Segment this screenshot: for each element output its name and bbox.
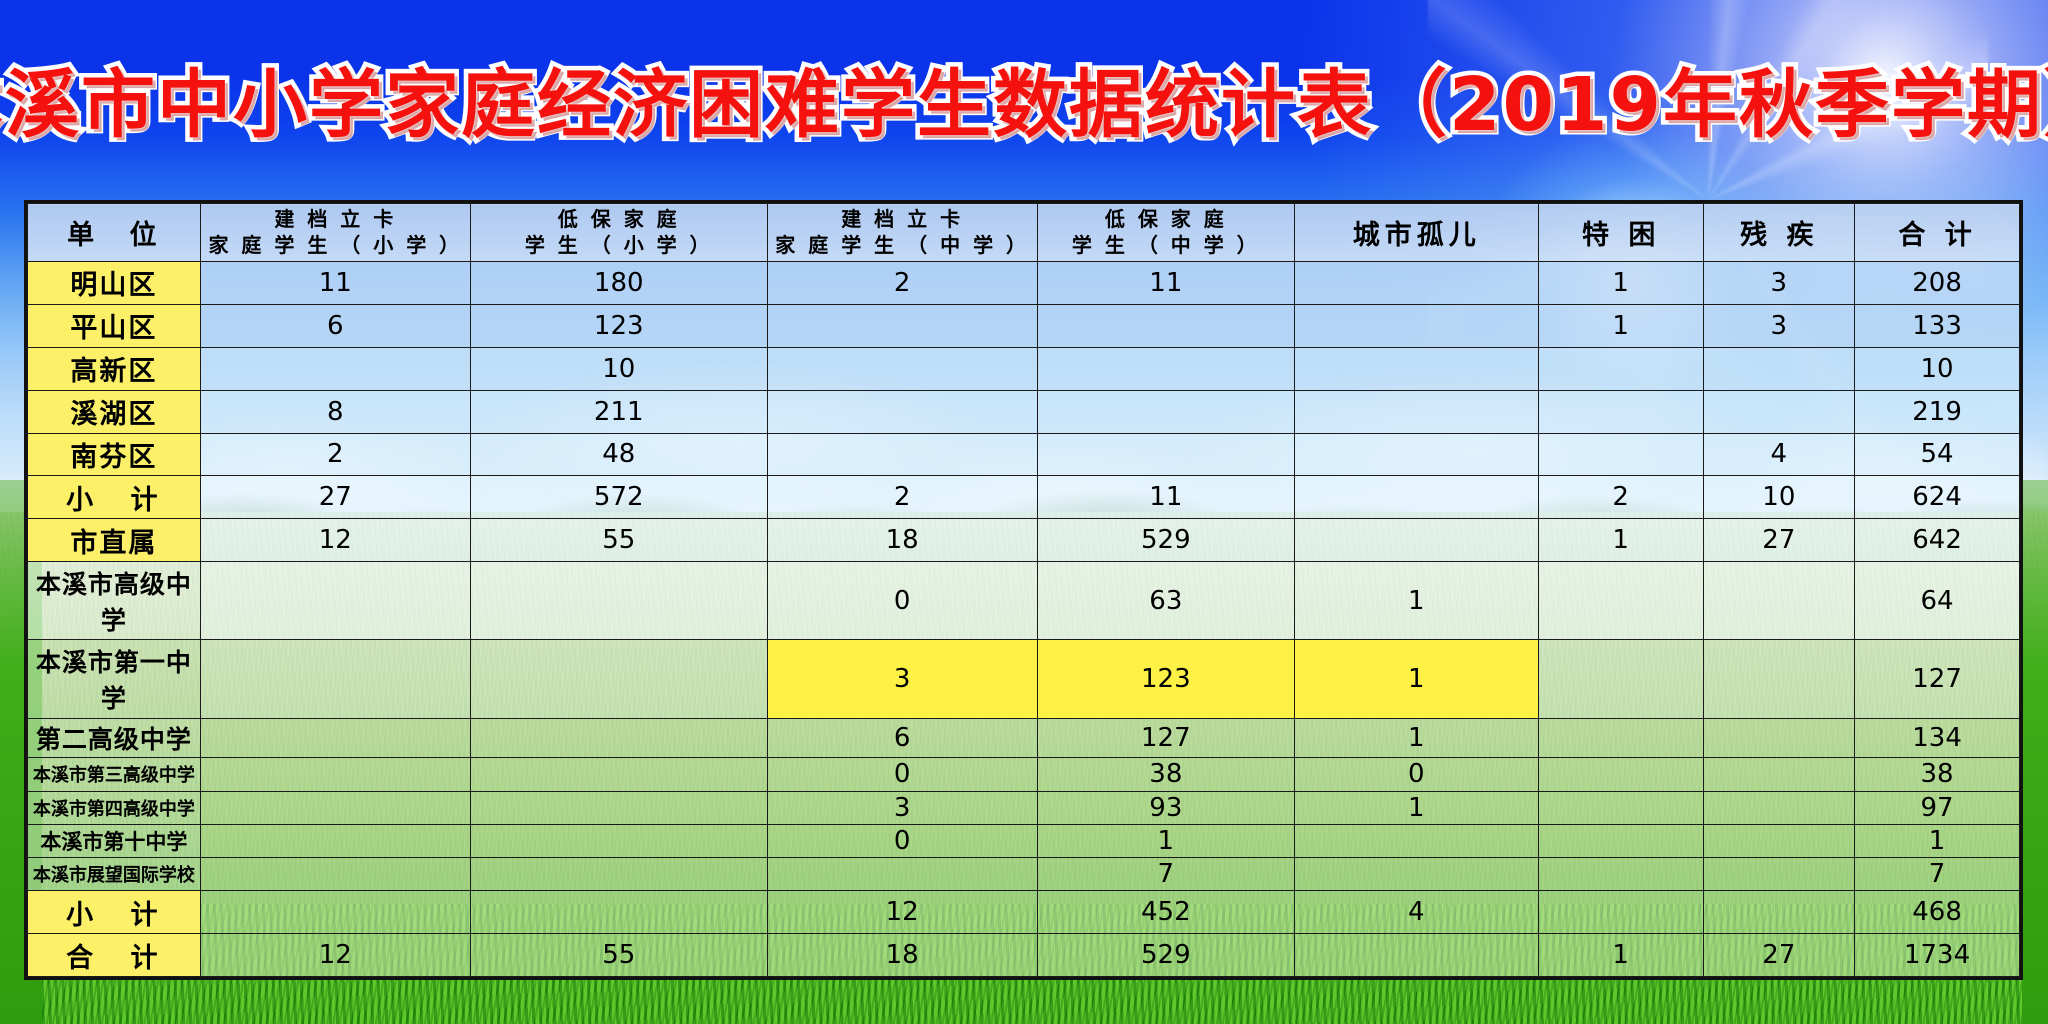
data-cell: 4 <box>1294 891 1538 934</box>
data-cell: 133 <box>1855 304 2020 347</box>
data-cell: 529 <box>1037 519 1294 562</box>
data-cell <box>200 640 470 718</box>
data-cell: 38 <box>1037 758 1294 791</box>
data-cell <box>767 433 1037 476</box>
data-cell: 63 <box>1037 562 1294 640</box>
data-cell: 54 <box>1855 433 2020 476</box>
data-cell: 208 <box>1855 262 2020 305</box>
data-cell <box>470 758 767 791</box>
page-title: 本溪市中小学家庭经济困难学生数据统计表（2019年秋季学期） <box>0 45 2048 152</box>
data-cell <box>470 640 767 718</box>
table-row: 南芬区248454 <box>28 433 2020 476</box>
data-cell <box>1703 891 1855 934</box>
data-cell: 1 <box>1855 824 2020 857</box>
data-cell <box>767 390 1037 433</box>
data-cell <box>767 304 1037 347</box>
data-cell: 1734 <box>1855 934 2020 977</box>
data-cell <box>1037 304 1294 347</box>
data-cell: 38 <box>1855 758 2020 791</box>
row-label-cell: 本溪市第一中学 <box>28 640 201 718</box>
data-cell: 0 <box>1294 758 1538 791</box>
data-cell: 10 <box>1703 476 1855 519</box>
table-row: 小 计27572211210624 <box>28 476 2020 519</box>
data-cell <box>1294 390 1538 433</box>
data-cell <box>1703 640 1855 718</box>
data-cell: 123 <box>1037 640 1294 718</box>
row-label-cell: 高新区 <box>28 347 201 390</box>
table-row: 高新区1010 <box>28 347 2020 390</box>
data-cell: 0 <box>767 758 1037 791</box>
data-cell <box>1538 347 1703 390</box>
data-cell <box>1037 390 1294 433</box>
row-label-cell: 南芬区 <box>28 433 201 476</box>
row-label-cell: 小 计 <box>28 891 201 934</box>
data-cell <box>200 791 470 824</box>
data-cell <box>1294 347 1538 390</box>
table-row: 小 计124524468 <box>28 891 2020 934</box>
data-cell: 55 <box>470 519 767 562</box>
data-cell: 11 <box>200 262 470 305</box>
data-cell <box>1294 824 1538 857</box>
data-cell <box>1703 791 1855 824</box>
data-cell <box>1703 857 1855 890</box>
data-cell <box>1538 390 1703 433</box>
data-cell: 18 <box>767 519 1037 562</box>
col-header-city-orphan: 城市孤儿 <box>1294 204 1538 262</box>
data-cell: 1 <box>1294 718 1538 758</box>
col-header-line2: 学 生 （ 中 学 ） <box>1042 233 1290 259</box>
data-cell: 2 <box>767 262 1037 305</box>
right-grass-edge <box>2022 480 2048 1024</box>
table-row: 本溪市第十中学011 <box>28 824 2020 857</box>
data-cell <box>1703 390 1855 433</box>
col-header-total: 合 计 <box>1855 204 2020 262</box>
row-label-cell: 市直属 <box>28 519 201 562</box>
data-cell <box>200 891 470 934</box>
data-cell <box>1538 758 1703 791</box>
table-row: 本溪市第四高级中学393197 <box>28 791 2020 824</box>
row-label-cell: 平山区 <box>28 304 201 347</box>
data-cell <box>1703 347 1855 390</box>
data-cell <box>1538 433 1703 476</box>
data-cell: 211 <box>470 390 767 433</box>
data-cell: 1 <box>1294 640 1538 718</box>
data-cell: 12 <box>200 934 470 977</box>
table-row: 本溪市展望国际学校77 <box>28 857 2020 890</box>
data-cell: 134 <box>1855 718 2020 758</box>
col-header-label: 合 计 <box>1898 220 1976 251</box>
data-cell: 12 <box>767 891 1037 934</box>
data-cell: 10 <box>1855 347 2020 390</box>
data-cell: 2 <box>1538 476 1703 519</box>
data-cell: 27 <box>1703 934 1855 977</box>
col-header-line2: 学 生 （ 小 学 ） <box>475 233 763 259</box>
data-cell <box>1294 519 1538 562</box>
data-cell <box>200 857 470 890</box>
data-cell: 7 <box>1855 857 2020 890</box>
data-cell <box>470 562 767 640</box>
data-cell <box>200 758 470 791</box>
data-cell: 2 <box>200 433 470 476</box>
data-cell: 1 <box>1538 262 1703 305</box>
col-header-jdlk-primary: 建 档 立 卡家 庭 学 生 （ 小 学 ） <box>200 204 470 262</box>
data-cell: 0 <box>767 824 1037 857</box>
col-header-line1: 低 保 家 庭 <box>1042 207 1290 233</box>
row-label-cell: 本溪市第三高级中学 <box>28 758 201 791</box>
table-row: 合 计1255185291271734 <box>28 934 2020 977</box>
col-header-line2: 家 庭 学 生 （ 中 学 ） <box>772 233 1033 259</box>
data-cell <box>1037 347 1294 390</box>
data-cell <box>1294 476 1538 519</box>
row-label-cell: 小 计 <box>28 476 201 519</box>
data-cell <box>470 791 767 824</box>
data-cell: 6 <box>200 304 470 347</box>
col-header-label: 城市孤儿 <box>1353 220 1481 251</box>
data-cell <box>200 562 470 640</box>
data-cell: 7 <box>1037 857 1294 890</box>
col-header-unit: 单 位 <box>28 204 201 262</box>
data-cell: 1 <box>1294 562 1538 640</box>
table-body: 明山区1118021113208平山区612313133高新区1010溪湖区82… <box>28 262 2020 977</box>
row-label-cell: 本溪市第十中学 <box>28 824 201 857</box>
table-row: 本溪市第三高级中学038038 <box>28 758 2020 791</box>
data-cell: 1 <box>1538 519 1703 562</box>
data-cell <box>470 891 767 934</box>
data-cell: 529 <box>1037 934 1294 977</box>
data-cell <box>1538 857 1703 890</box>
data-cell <box>1037 433 1294 476</box>
data-cell: 1 <box>1538 934 1703 977</box>
data-cell: 97 <box>1855 791 2020 824</box>
data-cell <box>470 824 767 857</box>
data-cell: 3 <box>1703 304 1855 347</box>
data-cell <box>1538 562 1703 640</box>
data-cell <box>1538 640 1703 718</box>
row-label-cell: 本溪市展望国际学校 <box>28 857 201 890</box>
data-cell: 6 <box>767 718 1037 758</box>
data-cell <box>470 718 767 758</box>
data-cell: 452 <box>1037 891 1294 934</box>
data-cell <box>1703 562 1855 640</box>
table-row: 明山区1118021113208 <box>28 262 2020 305</box>
data-cell: 27 <box>200 476 470 519</box>
row-label-cell: 合 计 <box>28 934 201 977</box>
data-cell: 3 <box>1703 262 1855 305</box>
data-cell <box>1294 304 1538 347</box>
data-cell: 48 <box>470 433 767 476</box>
data-cell: 12 <box>200 519 470 562</box>
col-header-jdlk-middle: 建 档 立 卡家 庭 学 生 （ 中 学 ） <box>767 204 1037 262</box>
data-cell <box>767 347 1037 390</box>
title-banner: 本溪市中小学家庭经济困难学生数据统计表（2019年秋季学期） <box>0 44 2048 152</box>
row-label-cell: 溪湖区 <box>28 390 201 433</box>
data-cell <box>1538 891 1703 934</box>
data-cell: 127 <box>1855 640 2020 718</box>
data-cell: 4 <box>1703 433 1855 476</box>
data-cell: 127 <box>1037 718 1294 758</box>
data-cell: 1 <box>1294 791 1538 824</box>
data-cell: 624 <box>1855 476 2020 519</box>
row-label-cell: 本溪市高级中学 <box>28 562 201 640</box>
data-cell <box>1294 857 1538 890</box>
table-row: 第二高级中学61271134 <box>28 718 2020 758</box>
data-cell: 2 <box>767 476 1037 519</box>
data-cell: 0 <box>767 562 1037 640</box>
data-cell: 93 <box>1037 791 1294 824</box>
row-label-cell: 明山区 <box>28 262 201 305</box>
data-cell <box>1538 824 1703 857</box>
col-header-extreme-poverty: 特 困 <box>1538 204 1703 262</box>
table-row: 市直属125518529127642 <box>28 519 2020 562</box>
col-header-label: 单 位 <box>67 220 169 251</box>
data-cell <box>470 857 767 890</box>
data-cell: 18 <box>767 934 1037 977</box>
col-header-label: 残 疾 <box>1740 220 1818 251</box>
data-cell <box>1294 433 1538 476</box>
row-label-cell: 第二高级中学 <box>28 718 201 758</box>
data-cell: 572 <box>470 476 767 519</box>
data-cell <box>1703 718 1855 758</box>
data-cell: 3 <box>767 791 1037 824</box>
data-cell <box>1538 791 1703 824</box>
row-label-cell: 本溪市第四高级中学 <box>28 791 201 824</box>
data-cell <box>1294 262 1538 305</box>
data-cell: 642 <box>1855 519 2020 562</box>
col-header-line1: 低 保 家 庭 <box>475 207 763 233</box>
data-cell: 11 <box>1037 262 1294 305</box>
data-cell <box>1703 758 1855 791</box>
data-cell: 219 <box>1855 390 2020 433</box>
data-cell: 1 <box>1037 824 1294 857</box>
data-cell: 180 <box>470 262 767 305</box>
data-cell: 27 <box>1703 519 1855 562</box>
table-row: 本溪市高级中学063164 <box>28 562 2020 640</box>
table-header-row: 单 位建 档 立 卡家 庭 学 生 （ 小 学 ）低 保 家 庭学 生 （ 小 … <box>28 204 2020 262</box>
col-header-line1: 建 档 立 卡 <box>205 207 466 233</box>
table-header: 单 位建 档 立 卡家 庭 学 生 （ 小 学 ）低 保 家 庭学 生 （ 小 … <box>28 204 2020 262</box>
data-cell <box>200 347 470 390</box>
col-header-dbjt-middle: 低 保 家 庭学 生 （ 中 学 ） <box>1037 204 1294 262</box>
col-header-label: 特 困 <box>1582 220 1660 251</box>
data-cell: 10 <box>470 347 767 390</box>
data-cell <box>767 857 1037 890</box>
data-cell: 64 <box>1855 562 2020 640</box>
statistics-table-container: 单 位建 档 立 卡家 庭 学 生 （ 小 学 ）低 保 家 庭学 生 （ 小 … <box>24 200 2023 980</box>
col-header-line1: 建 档 立 卡 <box>772 207 1033 233</box>
data-cell <box>200 824 470 857</box>
col-header-dbjt-primary: 低 保 家 庭学 生 （ 小 学 ） <box>470 204 767 262</box>
data-cell: 123 <box>470 304 767 347</box>
table-row: 本溪市第一中学31231127 <box>28 640 2020 718</box>
data-cell: 8 <box>200 390 470 433</box>
data-cell: 55 <box>470 934 767 977</box>
data-cell <box>1294 934 1538 977</box>
data-cell <box>200 718 470 758</box>
table-row: 溪湖区8211219 <box>28 390 2020 433</box>
col-header-line2: 家 庭 学 生 （ 小 学 ） <box>205 233 466 259</box>
statistics-table: 单 位建 档 立 卡家 庭 学 生 （ 小 学 ）低 保 家 庭学 生 （ 小 … <box>27 203 2020 977</box>
col-header-disabled: 残 疾 <box>1703 204 1855 262</box>
data-cell <box>1703 824 1855 857</box>
data-cell: 11 <box>1037 476 1294 519</box>
data-cell: 3 <box>767 640 1037 718</box>
table-row: 平山区612313133 <box>28 304 2020 347</box>
data-cell <box>1538 718 1703 758</box>
data-cell: 1 <box>1538 304 1703 347</box>
data-cell: 468 <box>1855 891 2020 934</box>
